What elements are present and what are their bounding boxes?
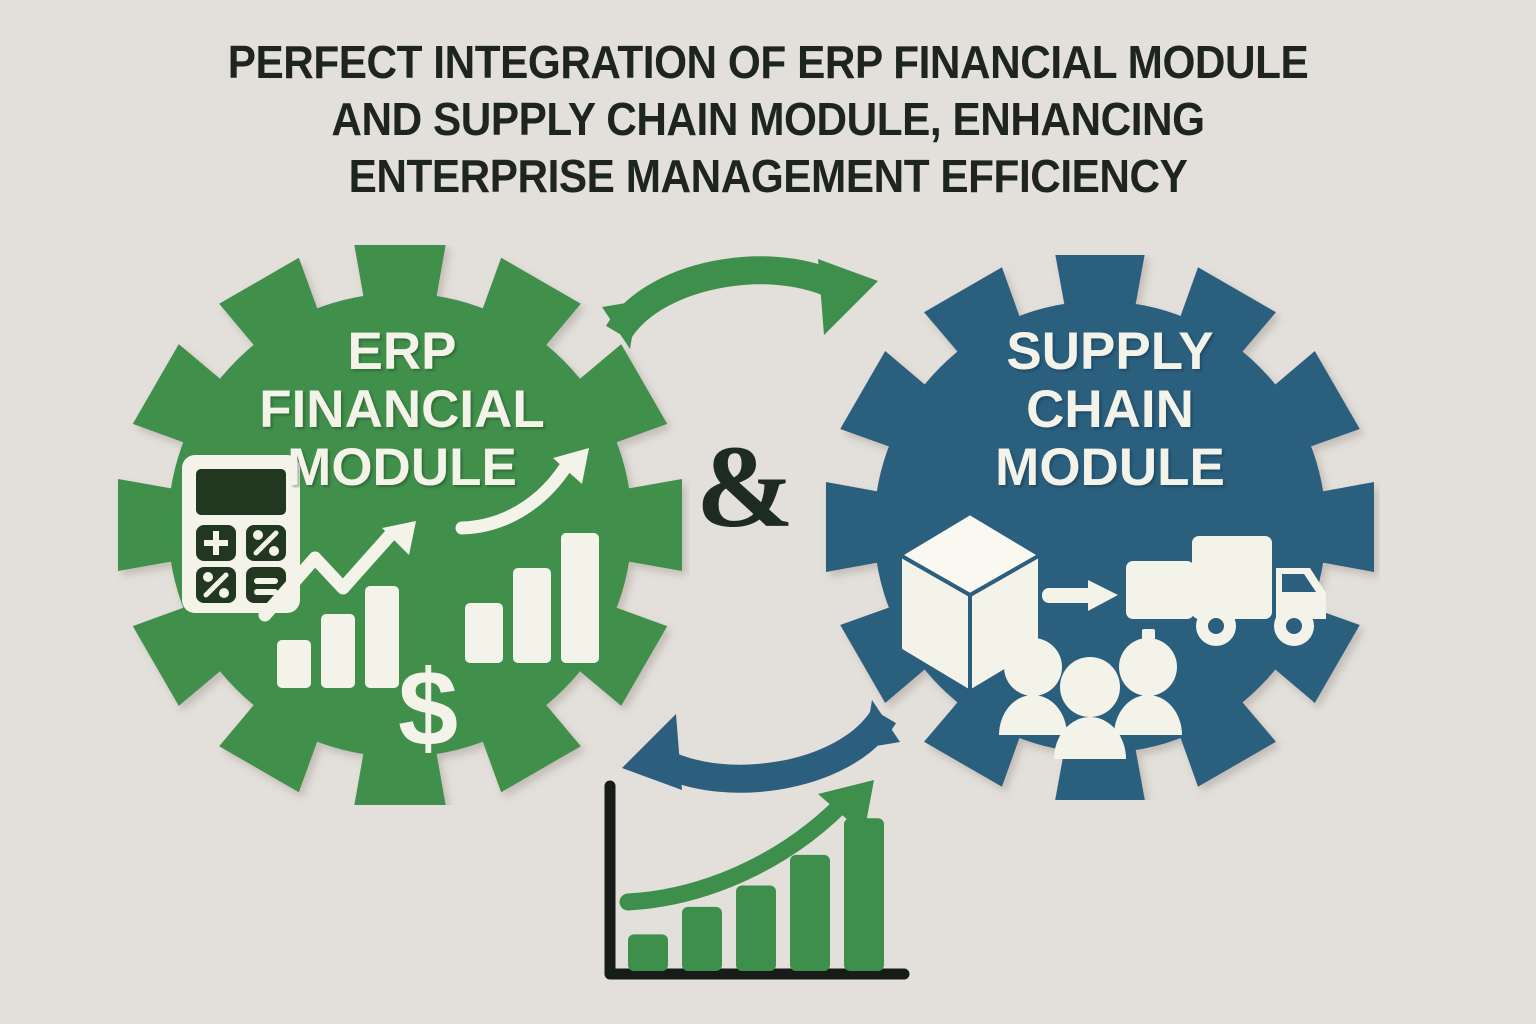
chart-bar (682, 907, 722, 971)
title-line-2: AND SUPPLY CHAIN MODULE, ENHANCING (61, 91, 1474, 148)
chart-bar (844, 818, 884, 971)
infographic-canvas: PERFECT INTEGRATION OF ERP FINANCIAL MOD… (0, 0, 1536, 1024)
dollar-sign-icon: $ (398, 647, 458, 768)
page-title: PERFECT INTEGRATION OF ERP FINANCIAL MOD… (61, 34, 1474, 205)
chart-trend-arrow (628, 780, 874, 902)
erp-label-line-2: FINANCIAL (212, 381, 592, 439)
scm-label-line-2: CHAIN (925, 381, 1295, 439)
top-connector-arrow (596, 245, 906, 375)
growth-bar-chart (592, 778, 922, 998)
title-line-1: PERFECT INTEGRATION OF ERP FINANCIAL MOD… (61, 34, 1474, 91)
erp-label-line-1: ERP (212, 323, 592, 381)
scm-label-line-1: SUPPLY (925, 323, 1295, 381)
ampersand-symbol: & (660, 428, 830, 546)
chart-bar (736, 885, 776, 971)
chart-bar (790, 855, 830, 971)
chart-bar (628, 934, 668, 971)
erp-financial-module-label: ERP FINANCIAL MODULE (212, 323, 592, 497)
supply-chain-module-label: SUPPLY CHAIN MODULE (925, 323, 1295, 497)
title-line-3: ENTERPRISE MANAGEMENT EFFICIENCY (61, 148, 1474, 205)
scm-label-line-3: MODULE (925, 439, 1295, 497)
erp-label-line-3: MODULE (212, 439, 592, 497)
